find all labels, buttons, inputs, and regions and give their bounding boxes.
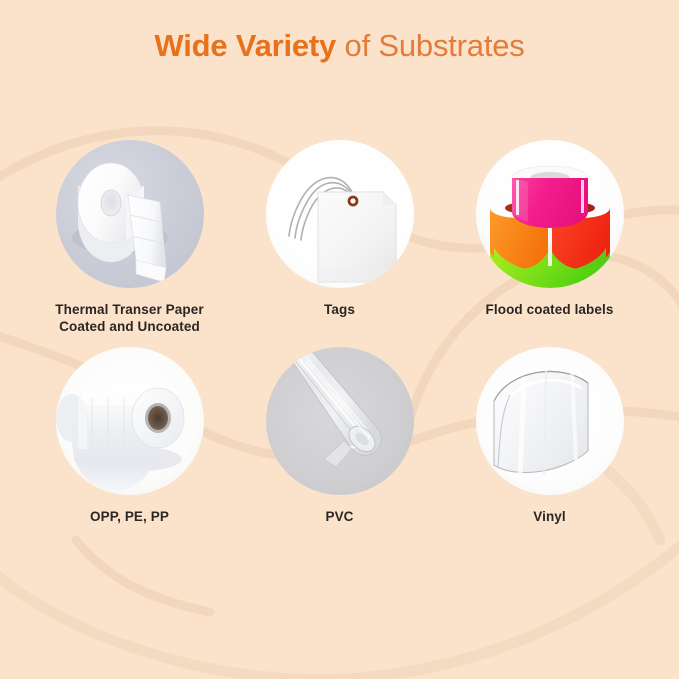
substrate-item-vinyl[interactable]: Vinyl	[445, 347, 655, 525]
page-title-light: of Substrates	[336, 28, 524, 63]
substrate-caption: Tags	[324, 301, 355, 318]
label-roll-white-icon	[56, 140, 204, 288]
substrate-row-2: OPP, PE, PP	[0, 347, 679, 525]
clear-pvc-sheet-icon	[266, 347, 414, 495]
substrate-item-flood-coated-labels[interactable]: Flood coated labels	[445, 140, 655, 318]
substrate-item-thermal-transfer-paper[interactable]: Thermal Transer Paper Coated and Uncoate…	[25, 140, 235, 335]
clear-vinyl-sheet-icon	[476, 347, 624, 495]
substrate-item-pvc[interactable]: PVC	[235, 347, 445, 525]
caption-line-1: Vinyl	[533, 508, 566, 525]
caption-line-1: Tags	[324, 301, 355, 318]
caption-line-1: OPP, PE, PP	[90, 508, 169, 525]
substrate-grid: Thermal Transer Paper Coated and Uncoate…	[0, 140, 679, 525]
colored-label-rolls-icon	[476, 140, 624, 288]
page-title: Wide Variety of Substrates	[0, 26, 679, 66]
page-title-wrap: Wide Variety of Substrates	[0, 26, 679, 66]
plastic-film-roll-icon	[56, 347, 204, 495]
substrate-item-opp-pe-pp[interactable]: OPP, PE, PP	[25, 347, 235, 525]
substrate-caption: Thermal Transer Paper Coated and Uncoate…	[55, 301, 203, 335]
poster-canvas: Wide Variety of Substrates	[0, 0, 679, 679]
hang-tag-icon	[266, 140, 414, 288]
caption-line-2: Coated and Uncoated	[55, 318, 203, 335]
substrate-caption: PVC	[325, 508, 353, 525]
substrate-caption: OPP, PE, PP	[90, 508, 169, 525]
caption-line-1: Flood coated labels	[486, 301, 614, 318]
caption-line-1: PVC	[325, 508, 353, 525]
substrate-caption: Flood coated labels	[486, 301, 614, 318]
page-title-strong: Wide Variety	[154, 28, 336, 63]
substrate-caption: Vinyl	[533, 508, 566, 525]
caption-line-1: Thermal Transer Paper	[55, 301, 203, 318]
substrate-item-tags[interactable]: Tags	[235, 140, 445, 318]
substrate-row-1: Thermal Transer Paper Coated and Uncoate…	[0, 140, 679, 335]
